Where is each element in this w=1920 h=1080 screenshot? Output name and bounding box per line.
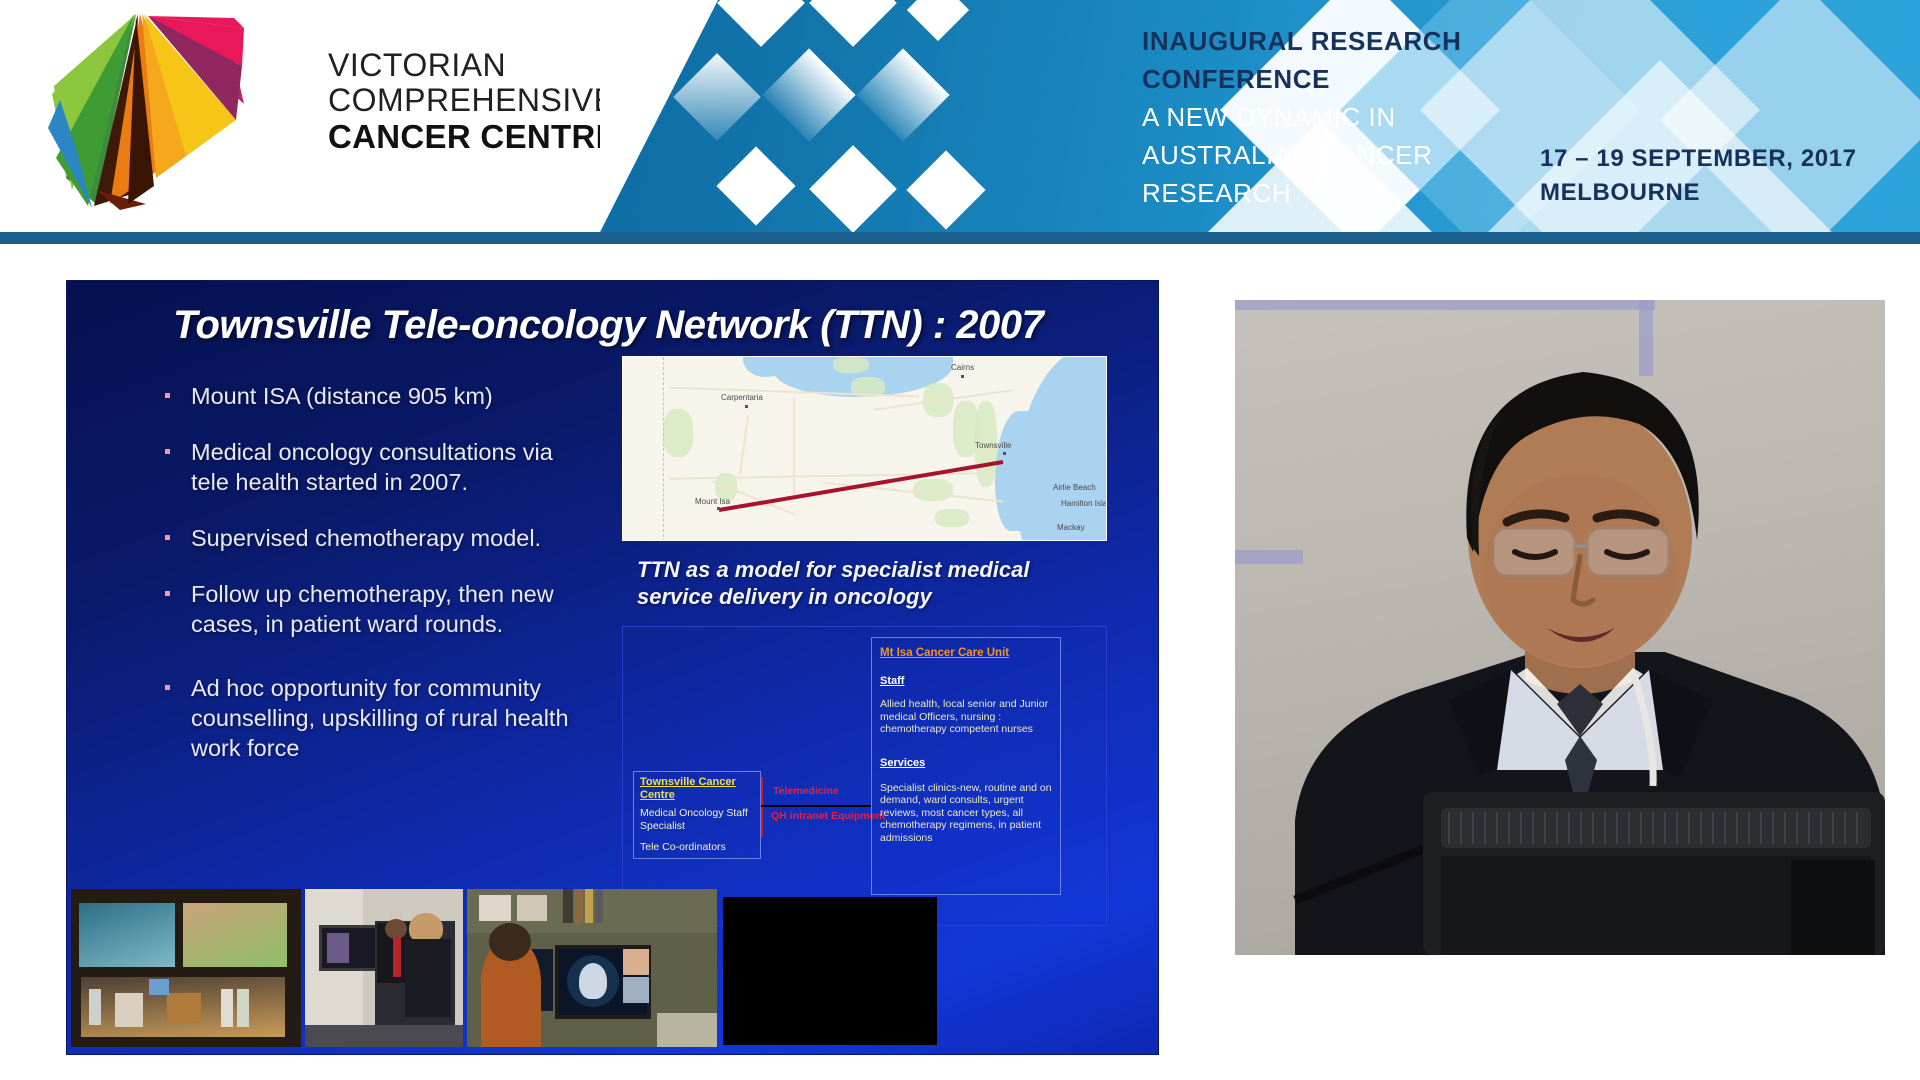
vegetation-patch: [935, 509, 969, 527]
slide-photo-strip: [67, 879, 1159, 1054]
mt-isa-services-heading: Services: [880, 756, 1052, 770]
list-item: Supervised chemotherapy model.: [153, 523, 573, 553]
city-dot-cairns: [961, 375, 964, 378]
townsville-box-line-1: Medical Oncology Staff Specialist: [640, 807, 754, 833]
org-line-2: COMPREHENSIVE: [328, 83, 618, 118]
list-item: Ad hoc opportunity for community counsel…: [153, 673, 573, 763]
mt-isa-box-title: Mt Isa Cancer Care Unit: [880, 646, 1052, 660]
townsville-box-line-2: Tele Co-ordinators: [640, 841, 754, 854]
event-date: 17 – 19 SEPTEMBER, 2017: [1540, 142, 1857, 176]
slide-title: Townsville Tele-oncology Network (TTN) :…: [173, 303, 1043, 348]
event-city: MELBOURNE: [1540, 176, 1857, 210]
banner-underline: [0, 232, 1920, 244]
speaker-video-feed[interactable]: [1235, 300, 1885, 955]
townsville-box-title: Townsville Cancer Centre: [640, 776, 754, 802]
tagline-line-2: AUSTRALIAN CANCER: [1142, 136, 1492, 174]
city-label-carpentaria: Carpentaria: [721, 393, 763, 402]
org-line-3: CANCER CENTRE: [328, 118, 618, 156]
city-label-mackay: Mackay: [1057, 523, 1085, 532]
clinician-reviewing-scans-photo: [467, 889, 717, 1047]
state-border: [663, 357, 664, 541]
townsville-cancer-centre-box: Townsville Cancer Centre Medical Oncolog…: [633, 771, 761, 859]
victorian-comprehensive-cancer-centre-logo: [36, 8, 266, 213]
conference-title: INAUGURAL RESEARCH CONFERENCE A NEW DYNA…: [1142, 22, 1492, 212]
presentation-slide[interactable]: Townsville Tele-oncology Network (TTN) :…: [66, 280, 1159, 1055]
organisation-name: VICTORIAN COMPREHENSIVE CANCER CENTRE: [328, 48, 618, 156]
city-dot-mount-isa: [717, 507, 720, 510]
highway: [739, 415, 749, 475]
list-item: Medical oncology consultations via tele …: [153, 437, 573, 497]
queensland-map: Mount Isa Townsville Cairns Airlie Beach…: [622, 356, 1107, 541]
conference-line-2: CONFERENCE: [1142, 60, 1492, 98]
org-line-1: VICTORIAN: [328, 48, 618, 83]
city-label-airlie-beach: Airlie Beach: [1053, 483, 1096, 492]
city-dot-carpentaria: [745, 405, 748, 408]
city-label-townsville: Townsville: [975, 441, 1011, 450]
city-label-hamilton-island: Hamilton Island: [1061, 499, 1107, 508]
connector-label-telemedicine: Telemedicine: [773, 785, 839, 797]
city-label-cairns: Cairns: [951, 363, 974, 372]
tagline-line-1: A NEW DYNAMIC IN: [1142, 98, 1492, 136]
vegetation-patch: [833, 357, 869, 373]
mt-isa-staff-heading: Staff: [880, 674, 1052, 688]
list-item: Follow up chemotherapy, then new cases, …: [153, 579, 573, 639]
mt-isa-cancer-care-unit-box: Mt Isa Cancer Care Unit Staff Allied hea…: [871, 637, 1061, 895]
connector-vertical-red: [761, 777, 763, 837]
vegetation-patch: [913, 479, 953, 501]
conference-banner: VICTORIAN COMPREHENSIVE CANCER CENTRE: [0, 0, 1920, 238]
teleoncology-route-line: [719, 460, 1004, 512]
mt-isa-staff-body: Allied health, local senior and Junior m…: [880, 698, 1052, 736]
slide-bullet-list: Mount ISA (distance 905 km) Medical onco…: [153, 381, 573, 789]
vegetation-patch: [663, 409, 693, 457]
model-heading: TTN as a model for specialist medical se…: [637, 556, 1107, 610]
city-label-mount-isa: Mount Isa: [695, 497, 730, 506]
highway: [793, 397, 795, 497]
mt-isa-services-body: Specialist clinics-new, routine and on d…: [880, 782, 1052, 845]
list-item: Mount ISA (distance 905 km): [153, 381, 573, 411]
coast-inlet: [995, 411, 1035, 531]
connector-label-qh-intranet: QH intranet Equipment: [771, 810, 885, 822]
connector-horizontal: [761, 805, 871, 807]
blank-black-photo: [723, 897, 937, 1045]
tagline-line-3: RESEARCH: [1142, 174, 1492, 212]
event-date-location: 17 – 19 SEPTEMBER, 2017 MELBOURNE: [1540, 142, 1857, 210]
conference-line-1: INAUGURAL RESEARCH: [1142, 22, 1492, 60]
consultation-videocall-photo: [305, 889, 463, 1047]
telehealth-room-photo: [71, 889, 301, 1047]
city-dot-townsville: [1003, 452, 1006, 455]
